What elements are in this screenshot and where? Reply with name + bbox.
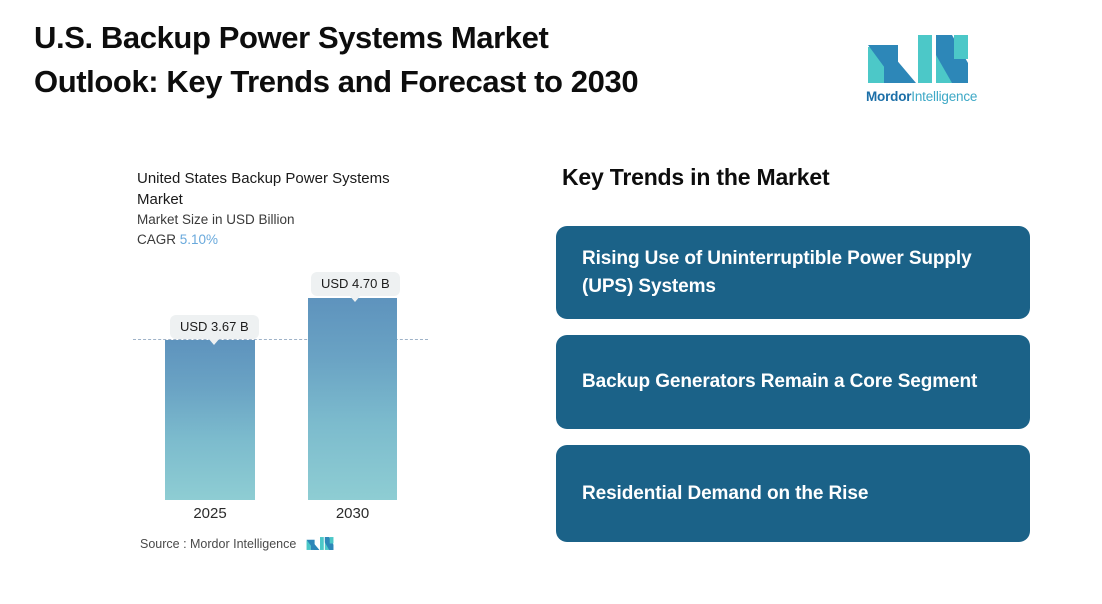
trend-card-2-text: Backup Generators Remain a Core Segment	[582, 368, 977, 396]
brand-wordmark: MordorIntelligence	[866, 89, 970, 105]
trend-card-3-text: Residential Demand on the Rise	[582, 480, 868, 508]
mordor-intelligence-logo: MordorIntelligence	[866, 33, 970, 108]
page-title-line-2: Outlook: Key Trends and Forecast to 2030	[34, 60, 834, 104]
trend-card-3[interactable]: Residential Demand on the Rise	[556, 445, 1030, 542]
brand-word-intelligence: Intelligence	[911, 89, 977, 104]
page-title-line-1: U.S. Backup Power Systems Market	[34, 20, 548, 55]
trend-card-2[interactable]: Backup Generators Remain a Core Segment	[556, 335, 1030, 429]
chart-panel: United States Backup Power Systems Marke…	[0, 150, 540, 590]
bar-2025-fill	[165, 340, 255, 500]
bar-2030[interactable]	[308, 298, 397, 500]
x-axis-label-2030: 2030	[308, 505, 397, 522]
bar-2030-fill	[308, 298, 397, 500]
x-axis-label-2025: 2025	[165, 505, 255, 522]
source-row: Source : Mordor Intelligence	[140, 536, 334, 551]
source-text: Source : Mordor Intelligence	[140, 537, 296, 551]
bar-2025[interactable]	[165, 340, 255, 500]
poster-root: U.S. Backup Power Systems Market Outlook…	[0, 0, 1102, 604]
bar-chart-plot: USD 3.67 B USD 4.70 B 2025 2030	[0, 150, 540, 590]
mi-monogram-icon	[866, 33, 970, 85]
trend-card-1-text: Rising Use of Uninterruptible Power Supp…	[582, 245, 1004, 301]
mi-monogram-small-icon	[306, 536, 334, 551]
page-title: U.S. Backup Power Systems Market Outlook…	[34, 16, 834, 104]
key-trends-heading: Key Trends in the Market	[562, 164, 1036, 191]
bar-2025-value-label: USD 3.67 B	[170, 315, 259, 339]
trend-card-1[interactable]: Rising Use of Uninterruptible Power Supp…	[556, 226, 1030, 319]
brand-word-mordor: Mordor	[866, 89, 911, 104]
bar-2030-value-label: USD 4.70 B	[311, 272, 400, 296]
key-trends-panel: Key Trends in the Market Rising Use of U…	[556, 150, 1036, 191]
